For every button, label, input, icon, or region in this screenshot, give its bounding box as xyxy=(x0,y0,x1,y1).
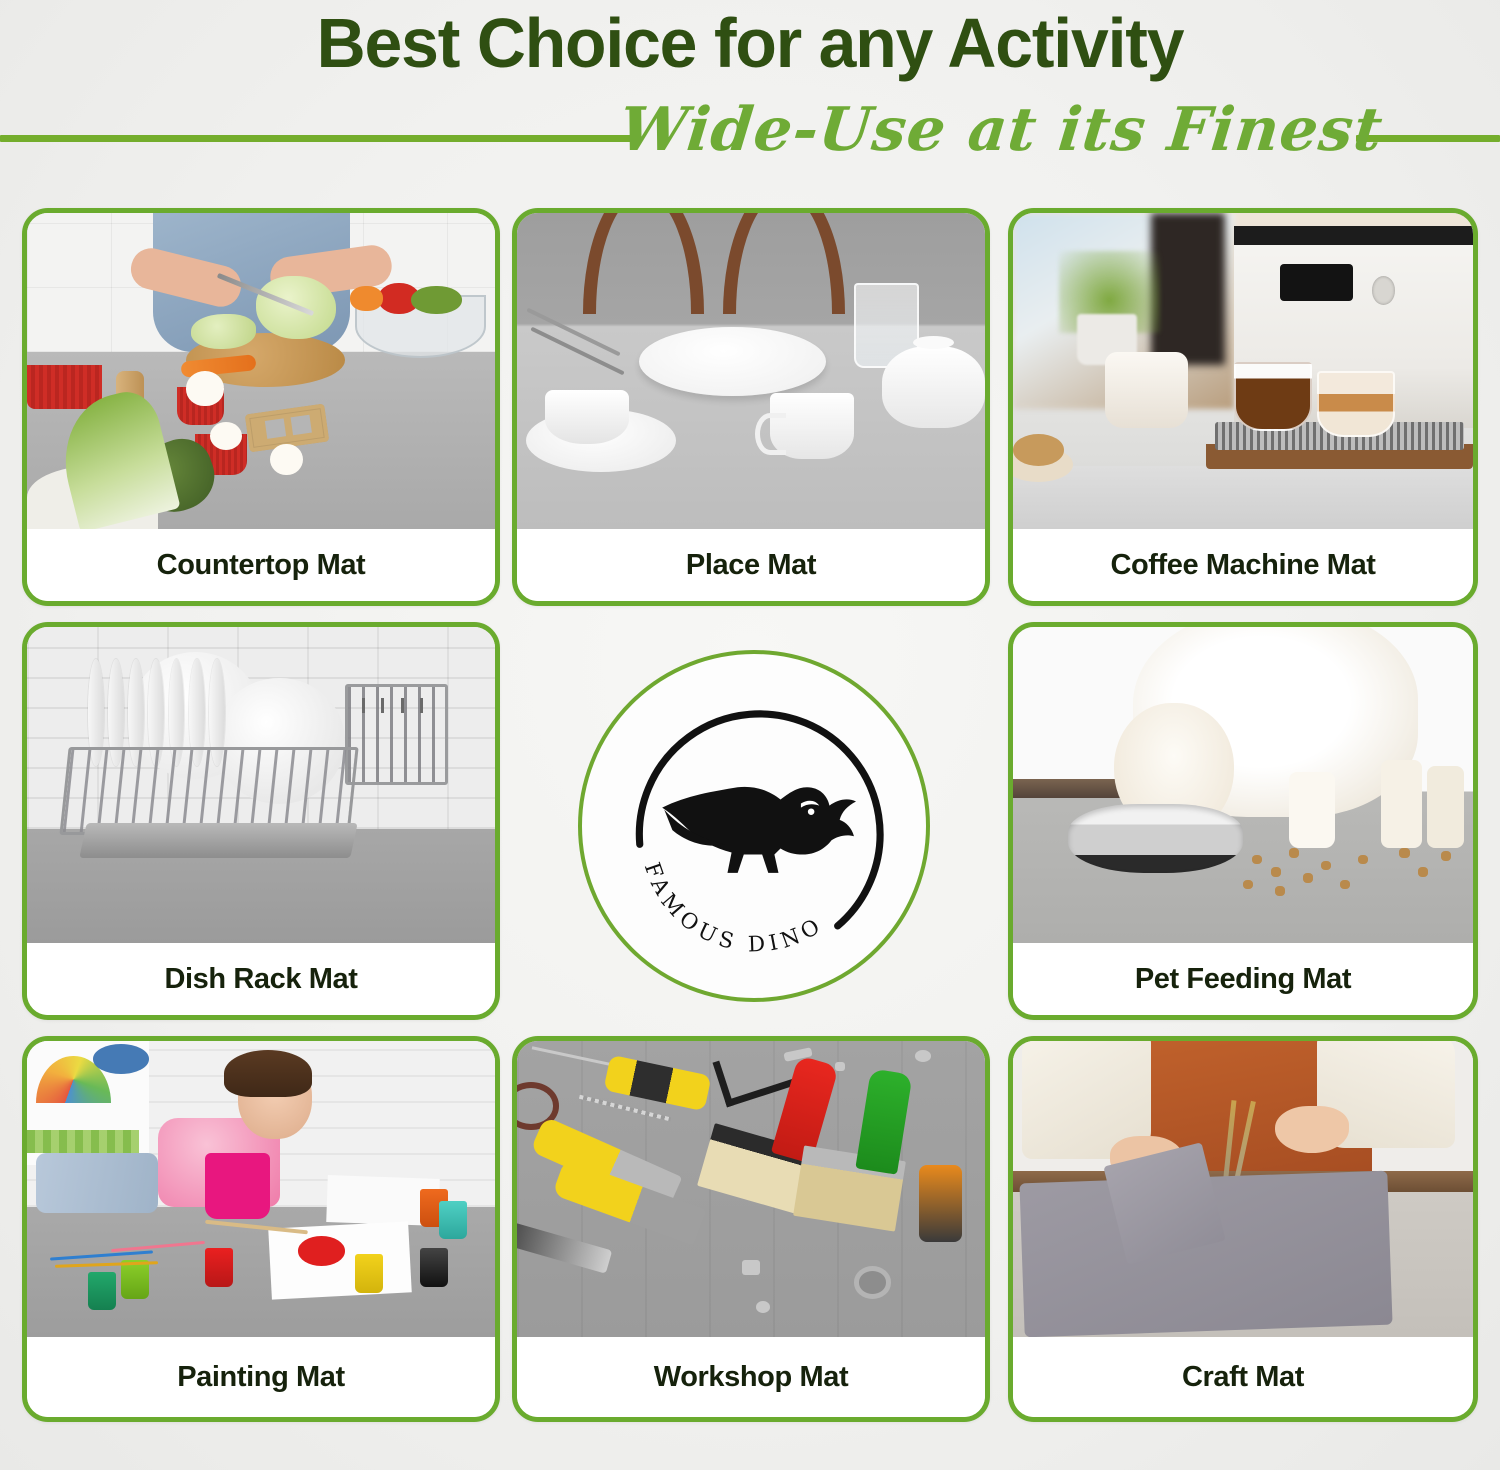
card-label: Countertop Mat xyxy=(27,529,495,601)
countertop-mat-photo xyxy=(27,213,495,529)
card-craft-mat[interactable]: Craft Mat xyxy=(1008,1036,1478,1422)
card-countertop-mat[interactable]: Countertop Mat xyxy=(22,208,500,606)
card-label: Coffee Machine Mat xyxy=(1013,529,1473,601)
logo-brand-text: FAMOUS DINO xyxy=(639,859,829,957)
card-label: Place Mat xyxy=(517,529,985,601)
coffee-machine-mat-photo xyxy=(1013,213,1473,529)
dish-rack-mat-photo xyxy=(27,627,495,943)
card-label: Painting Mat xyxy=(27,1337,495,1417)
card-place-mat[interactable]: Place Mat xyxy=(512,208,990,606)
card-label: Dish Rack Mat xyxy=(27,943,495,1015)
card-workshop-mat[interactable]: Workshop Mat xyxy=(512,1036,990,1422)
card-label: Craft Mat xyxy=(1013,1337,1473,1417)
craft-mat-photo xyxy=(1013,1041,1473,1337)
place-mat-photo xyxy=(517,213,985,529)
pet-feeding-mat-photo xyxy=(1013,627,1473,943)
card-coffee-machine-mat[interactable]: Coffee Machine Mat xyxy=(1008,208,1478,606)
card-label: Workshop Mat xyxy=(517,1337,985,1417)
svg-text:FAMOUS DINO: FAMOUS DINO xyxy=(639,859,829,957)
card-pet-feeding-mat[interactable]: Pet Feeding Mat xyxy=(1008,622,1478,1020)
card-painting-mat[interactable]: Painting Mat xyxy=(22,1036,500,1422)
workshop-mat-photo xyxy=(517,1041,985,1337)
triceratops-dinosaur-icon: FAMOUS DINO xyxy=(601,673,907,979)
card-label: Pet Feeding Mat xyxy=(1013,943,1473,1015)
activity-card-grid: Countertop Mat Place Mat xyxy=(0,0,1500,1470)
brand-logo: FAMOUS DINO xyxy=(578,650,930,1002)
card-dish-rack-mat[interactable]: Dish Rack Mat xyxy=(22,622,500,1020)
painting-mat-photo xyxy=(27,1041,495,1337)
